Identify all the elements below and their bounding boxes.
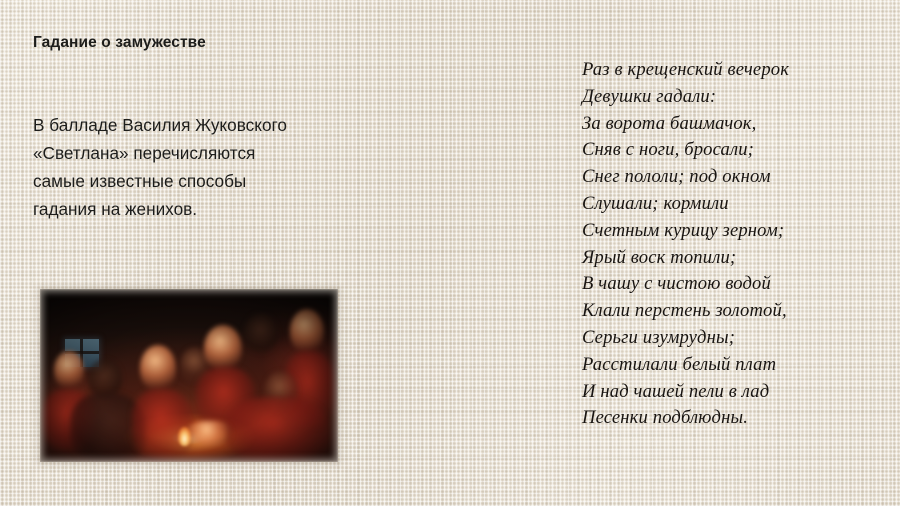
poem-line: За ворота башмачок, (582, 111, 882, 138)
poem-line: Слушали; кормили (582, 191, 882, 218)
fortune-telling-painting (40, 289, 338, 462)
poem-block: Раз в крещенский вечерок Девушки гадали:… (582, 57, 882, 432)
poem-line: Раз в крещенский вечерок (582, 57, 882, 84)
poem-line: В чашу с чистою водой (582, 271, 882, 298)
body-line: В балладе Василия Жуковского (33, 111, 341, 139)
body-line: самые известные способы (33, 167, 341, 195)
body-paragraph: В балладе Василия Жуковского «Светлана» … (33, 111, 341, 223)
poem-line: Девушки гадали: (582, 84, 882, 111)
poem-line: Сняв с ноги, бросали; (582, 137, 882, 164)
poem-line: Снег пололи; под окном (582, 164, 882, 191)
poem-line: Серьги изумрудны; (582, 325, 882, 352)
poem-line: Расстилали белый плат (582, 352, 882, 379)
painting-vignette (40, 289, 338, 462)
slide-canvas: Гадание о замужестве В балладе Василия Ж… (0, 0, 900, 506)
body-line: «Светлана» перечисляются (33, 139, 341, 167)
page-title: Гадание о замужестве (33, 33, 513, 52)
poem-line: И над чашей пели в лад (582, 379, 882, 406)
body-line: гадания на женихов. (33, 195, 341, 223)
poem-line: Счетным курицу зерном; (582, 218, 882, 245)
poem-line: Песенки подблюдны. (582, 405, 882, 432)
poem-line: Ярый воск топили; (582, 245, 882, 272)
poem-line: Клали перстень золотой, (582, 298, 882, 325)
